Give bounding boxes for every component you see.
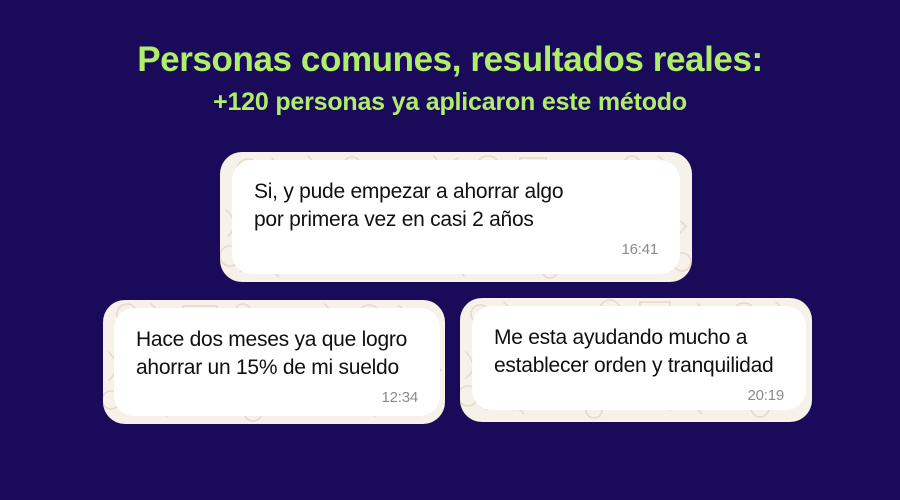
chat-message-text: Me esta ayudando mucho a establecer orde… [494,324,784,379]
chat-bubble-1: Si, y pude empezar a ahorrar algo por pr… [232,160,680,274]
chat-bubble-2: Hace dos meses ya que logro ahorrar un 1… [114,308,440,416]
chat-message-timestamp: 16:41 [254,241,658,266]
chat-card-1: Si, y pude empezar a ahorrar algo por pr… [220,152,692,282]
page-title: Personas comunes, resultados reales: [0,42,900,79]
chat-card-3: Me esta ayudando mucho a establecer orde… [460,298,812,422]
header-block: Personas comunes, resultados reales: +12… [0,0,900,117]
page-subtitle: +120 personas ya aplicaron este método [0,88,900,117]
chat-bubble-3: Me esta ayudando mucho a establecer orde… [472,306,806,410]
chat-card-2: Hace dos meses ya que logro ahorrar un 1… [103,300,445,424]
chat-message-timestamp: 12:34 [136,389,418,414]
chat-message-text: Si, y pude empezar a ahorrar algo por pr… [254,178,658,233]
chat-message-text: Hace dos meses ya que logro ahorrar un 1… [136,326,418,381]
chat-message-timestamp: 20:19 [494,387,784,412]
